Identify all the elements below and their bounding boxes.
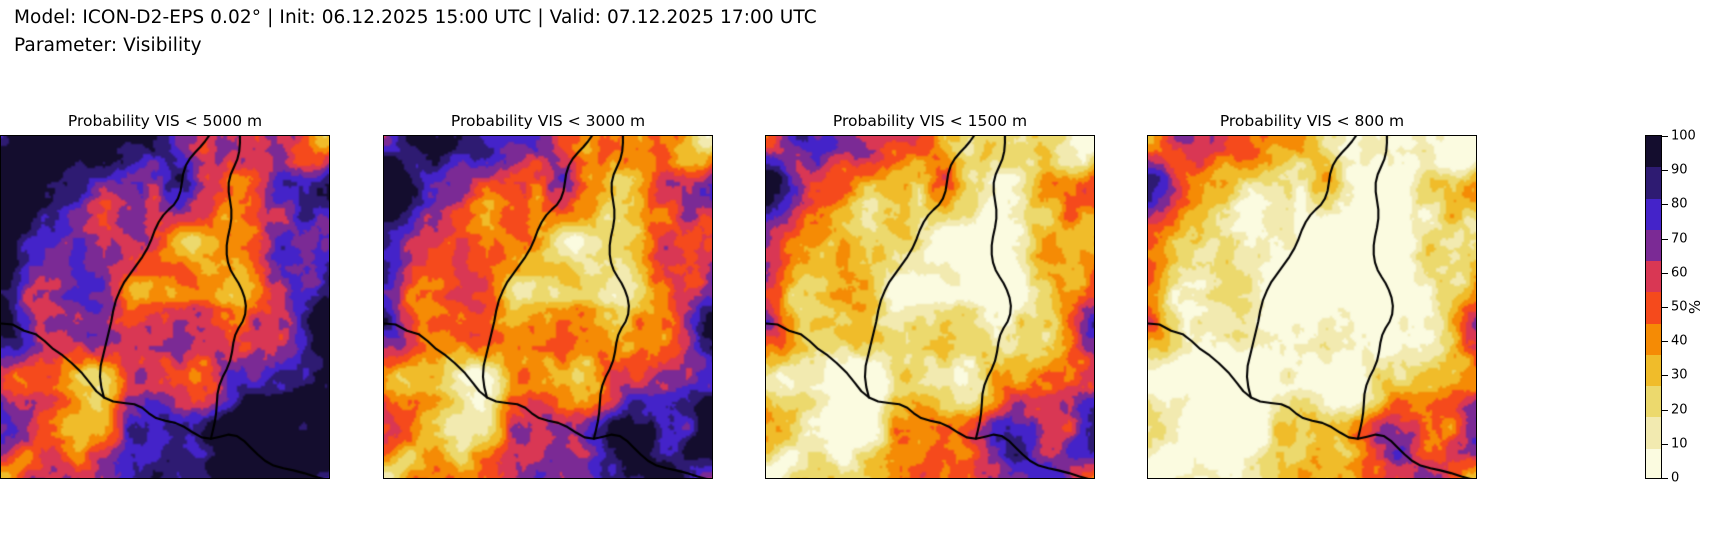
colorbar-band	[1646, 167, 1661, 198]
colorbar-tick	[1662, 307, 1668, 308]
probability-field	[1, 136, 330, 479]
colorbar-band	[1646, 199, 1661, 230]
colorbar-tick	[1662, 478, 1668, 479]
colorbar-band	[1646, 355, 1661, 386]
panel-title-1: Probability VIS < 3000 m	[383, 112, 713, 130]
colorbar-tick-label: 0	[1671, 472, 1679, 485]
colorbar-tick	[1662, 273, 1668, 274]
colorbar-band	[1646, 386, 1661, 417]
colorbar-tick-label: 60	[1671, 266, 1688, 279]
panel-title-0: Probability VIS < 5000 m	[0, 112, 330, 130]
colorbar-band	[1646, 324, 1661, 355]
colorbar-tick	[1662, 410, 1668, 411]
colorbar-tick-label: 90	[1671, 164, 1688, 177]
colorbar-unit-label: %	[1686, 300, 1704, 314]
colorbar-tick-label: 10	[1671, 437, 1688, 450]
colorbar-band	[1646, 417, 1661, 448]
colorbar-tick	[1662, 204, 1668, 205]
colorbar-tick-label: 70	[1671, 232, 1688, 245]
map-panel-vis-1500[interactable]	[765, 135, 1095, 479]
panel-title-2: Probability VIS < 1500 m	[765, 112, 1095, 130]
probability-field	[384, 136, 713, 479]
colorbar-tick-label: 40	[1671, 335, 1688, 348]
colorbar-tick-label: 80	[1671, 198, 1688, 211]
probability-field	[766, 136, 1095, 479]
map-panel-vis-5000[interactable]	[0, 135, 330, 479]
figure-canvas: Model: ICON-D2-EPS 0.02° | Init: 06.12.2…	[0, 0, 1717, 538]
colorbar-tick	[1662, 341, 1668, 342]
colorbar-band	[1646, 136, 1661, 167]
colorbar-tick	[1662, 375, 1668, 376]
colorbar-tick	[1662, 136, 1668, 137]
probability-field	[1148, 136, 1477, 479]
colorbar-tick	[1662, 239, 1668, 240]
colorbar-tick-label: 20	[1671, 403, 1688, 416]
model-info-line: Model: ICON-D2-EPS 0.02° | Init: 06.12.2…	[14, 4, 1414, 32]
colorbar-tick-label: 50	[1671, 301, 1688, 314]
colorbar-tick-label: 100	[1671, 130, 1696, 143]
colorbar-gradient	[1645, 135, 1662, 479]
map-panel-vis-3000[interactable]	[383, 135, 713, 479]
colorbar: % 1009080706050403020100	[1645, 135, 1717, 479]
colorbar-band	[1646, 449, 1661, 479]
colorbar-band	[1646, 292, 1661, 323]
colorbar-tick	[1662, 170, 1668, 171]
panel-title-3: Probability VIS < 800 m	[1147, 112, 1477, 130]
parameter-line: Parameter: Visibility	[14, 32, 1414, 60]
figure-header: Model: ICON-D2-EPS 0.02° | Init: 06.12.2…	[14, 4, 1414, 60]
map-panel-vis-800[interactable]	[1147, 135, 1477, 479]
colorbar-tick	[1662, 444, 1668, 445]
colorbar-band	[1646, 261, 1661, 292]
colorbar-band	[1646, 230, 1661, 261]
colorbar-tick-label: 30	[1671, 369, 1688, 382]
